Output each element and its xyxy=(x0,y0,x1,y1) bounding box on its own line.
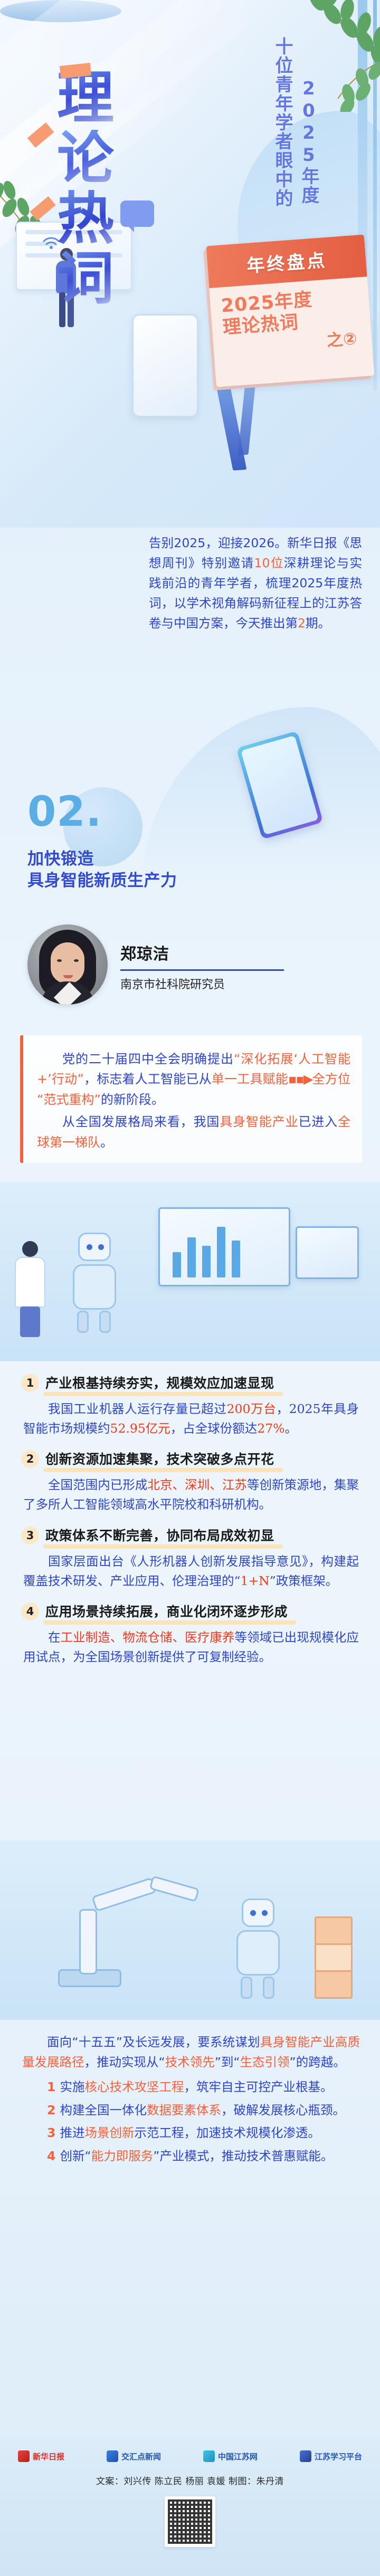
logo-jiaohuidian[interactable]: 交汇点新闻 xyxy=(107,2450,161,2462)
robot-eye-left xyxy=(87,1244,92,1250)
robot-head xyxy=(78,1233,111,1261)
mini-bar-2 xyxy=(187,1237,196,1277)
illustration-phone xyxy=(132,314,198,417)
closing-block: 面向“十五五”及长远发展，要系统谋划具身智能产业高质量发展路径，推动实现从“技术… xyxy=(0,2033,380,2167)
text-run: 数据要素体系 xyxy=(147,2103,221,2117)
item-header: 3 政策体系不断完善，协同布局成效初显 xyxy=(21,1525,361,1545)
illustration-band-lab xyxy=(0,1182,380,1361)
quote-block: 党的二十届四中全会明确提出“深化拓展‘人工智能+’行动”，标志着人工智能已从单一… xyxy=(20,1035,362,1163)
text-run: 具身智能产业 xyxy=(220,1114,298,1129)
text-run: 1+N xyxy=(241,1573,270,1588)
title-char-2: 论 xyxy=(57,130,114,188)
author-role: 南京市社科院研究员 xyxy=(120,975,284,992)
text-run: 52.95亿元 xyxy=(110,1421,170,1436)
text-run: ”的跨越。 xyxy=(290,2055,346,2069)
text-run: 期。 xyxy=(306,616,330,631)
intro-block: 告别2025，迎接2026。新华日报《思想周刊》特别邀请10位深耕理论与实践前沿… xyxy=(0,533,380,633)
box-3 xyxy=(315,1970,353,1999)
text-run: ，标志着人工智能已从 xyxy=(84,1072,212,1086)
easel-card: 年终盘点 2025年度 理论热词 之② xyxy=(206,234,375,387)
closing-point: 1 实施核心技术攻坚工程，筑牢自主可控产业根基。 xyxy=(22,2077,360,2097)
quote-paragraph-1: 党的二十届四中全会明确提出“深化拓展‘人工智能+’行动”，标志着人工智能已从单一… xyxy=(37,1049,350,1110)
globe-icon xyxy=(203,2450,215,2462)
section-title: 加快锻造 具身智能新质生产力 xyxy=(27,848,380,892)
item-title: 应用场景持续拓展，商业化闭环逐步形成 xyxy=(45,1601,288,1621)
mini-bar-4 xyxy=(217,1227,225,1277)
title-char-4: 词 xyxy=(57,250,114,308)
logo-jschina[interactable]: 中国江苏网 xyxy=(203,2450,258,2462)
news-app-icon xyxy=(107,2450,118,2462)
item-title: 政策体系不断完善，协同布局成效初显 xyxy=(45,1525,274,1545)
author-name: 郑琼洁 xyxy=(120,941,284,964)
text-run: ”产业模式，推动技术普惠赋能。 xyxy=(153,2149,333,2163)
text-run: ▪▪▶ xyxy=(288,1072,312,1086)
avatar-eye-right xyxy=(74,959,79,962)
footer-logos: 新华日报 交汇点新闻 中国江苏网 江苏学习平台 xyxy=(16,2450,364,2462)
text-run: 生态引领 xyxy=(240,2055,290,2069)
text-run: 技术领先 xyxy=(165,2055,215,2069)
closing-point-number: 3 xyxy=(47,2125,60,2140)
hero-vertical-tagline: 十位青年学者眼中的 xyxy=(270,37,296,208)
logo-label: 江苏学习平台 xyxy=(315,2451,362,2462)
text-run: 核心技术攻坚工程 xyxy=(85,2079,184,2094)
robot2-eye-left xyxy=(250,1910,256,1916)
list-item: 2 创新资源加速集聚，技术突破多点开花 全国范围内已形成北京、深圳、江苏等创新策… xyxy=(21,1449,361,1514)
robotic-arm-segment-2 xyxy=(91,1877,156,1912)
text-run: ”政策框架。 xyxy=(270,1573,338,1588)
list-item: 3 政策体系不断完善，协同布局成效初显 国家层面出台《人形机器人创新发展指导意见… xyxy=(21,1525,361,1591)
qr-code[interactable] xyxy=(165,2496,215,2547)
list-item: 4 应用场景持续拓展，商业化闭环逐步形成 在工业制造、物流仓储、医疗康养等领域已… xyxy=(21,1601,361,1667)
illustration-robot-2 xyxy=(227,1898,285,1988)
avatar xyxy=(27,924,108,1005)
section-number: 02. xyxy=(27,791,380,833)
illustration-speech-bubble xyxy=(120,201,154,227)
warehouse-box-stack xyxy=(315,1918,353,1999)
item-body: 国家层面出台《人形机器人创新发展指导意见》，构建起覆盖技术研发、产业应用、伦理治… xyxy=(21,1552,361,1591)
robot2-leg-left xyxy=(241,1977,252,1999)
numbered-items-list: 1 产业根基持续夯实，规模效应加速显现 我国工业机器人运行存量已超过200万台，… xyxy=(0,1373,380,1677)
item-title: 创新资源加速集聚，技术突破多点开花 xyxy=(45,1449,274,1469)
text-run: 27% xyxy=(257,1421,284,1436)
title-char-3: 热 xyxy=(57,190,114,248)
box-1 xyxy=(315,1916,353,1945)
quote-paragraph-2: 从全国发展格局来看，我国具身智能产业已进入全球第一梯队。 xyxy=(37,1112,350,1152)
text-run: 的新阶段。 xyxy=(101,1092,164,1107)
section-title-line-2: 具身智能新质生产力 xyxy=(27,870,380,892)
item-header: 4 应用场景持续拓展，商业化闭环逐步形成 xyxy=(21,1601,361,1621)
mini-bar-1 xyxy=(173,1252,181,1277)
text-run: 从全国发展格局来看，我国 xyxy=(62,1114,220,1129)
illustration-researcher xyxy=(8,1241,53,1336)
text-run: ，推动实现从“ xyxy=(84,2055,165,2069)
researcher-head xyxy=(22,1241,38,1257)
researcher-coat xyxy=(15,1257,45,1308)
logo-xinhua-daily[interactable]: 新华日报 xyxy=(18,2450,64,2462)
hero-main-title: 理 论 热 词 xyxy=(57,70,114,309)
mini-bar-3 xyxy=(202,1246,211,1277)
text-run: 党的二十届四中全会明确提出 xyxy=(62,1052,234,1066)
robot2-eye-right xyxy=(262,1910,268,1916)
item-number: 1 xyxy=(21,1374,39,1392)
closing-lead-paragraph: 面向“十五五”及长远发展，要系统谋划具身智能产业高质量发展路径，推动实现从“技术… xyxy=(22,2033,360,2072)
item-number: 4 xyxy=(21,1602,39,1620)
robot-leg-left xyxy=(77,1311,89,1333)
robot2-body xyxy=(236,1930,280,1976)
robot-body xyxy=(73,1264,116,1310)
author-block: 郑琼洁 南京市社科院研究员 xyxy=(27,922,355,1007)
robot-leg-right xyxy=(99,1311,111,1333)
title-char-1: 理 xyxy=(57,70,114,128)
hero-section: 理 论 热 词 十位青年学者眼中的 2025年度 xyxy=(0,0,380,528)
robot2-head xyxy=(242,1898,274,1927)
text-run: 实施 xyxy=(60,2079,85,2094)
avatar-eye-left xyxy=(57,959,62,962)
intro-paragraph: 告别2025，迎接2026。新华日报《思想周刊》特别邀请10位深耕理论与实践前沿… xyxy=(149,533,362,633)
logo-label: 新华日报 xyxy=(33,2451,64,2462)
text-run: ，筑牢自主可控产业根基。 xyxy=(184,2079,333,2094)
text-run: 我国工业机器人运行存量已超过 xyxy=(48,1401,227,1416)
text-run: 。 xyxy=(100,1135,113,1150)
item-header: 1 产业根基持续夯实，规模效应加速显现 xyxy=(21,1373,361,1393)
text-run: 。 xyxy=(285,1421,298,1436)
year-end-review-card: 年终盘点 2025年度 理论热词 之② xyxy=(206,234,375,388)
item-body: 我国工业机器人运行存量已超过200万台，2025年具身智能市场规模约52.95亿… xyxy=(21,1399,361,1438)
text-run: 创新“ xyxy=(60,2149,91,2163)
illustration-robot-1 xyxy=(63,1233,127,1333)
text-run: 200万台 xyxy=(227,1401,277,1416)
text-run: 2 xyxy=(298,616,306,631)
closing-point-number: 2 xyxy=(47,2103,60,2117)
researcher-legs xyxy=(20,1306,40,1337)
easel-body: 2025年度 理论热词 之② xyxy=(209,276,372,359)
robot2-leg-right xyxy=(263,1977,274,1999)
closing-point: 2 构建全国一体化数据要素体系，破解发展核心瓶颈。 xyxy=(22,2101,360,2121)
text-run: ，破解发展核心瓶颈。 xyxy=(221,2103,345,2117)
text-run: 示范工程，加速技术规模化渗透。 xyxy=(135,2125,321,2140)
footer: 新华日报 交汇点新闻 中国江苏网 江苏学习平台 文案：刘兴传 陈立民 杨丽 袁媛… xyxy=(0,2441,380,2576)
item-number: 2 xyxy=(21,1450,39,1468)
closing-point-number: 1 xyxy=(47,2079,60,2094)
band-screen-small xyxy=(296,1226,359,1279)
text-run: 工业制造、物流仓储、医疗康养 xyxy=(61,1630,235,1645)
text-run: ，占全球份额达 xyxy=(170,1421,258,1436)
hero-vertical-year: 2025年度 xyxy=(296,78,322,205)
robotic-arm-segment-1 xyxy=(79,1909,97,1974)
section-heading: 02. 加快锻造 具身智能新质生产力 xyxy=(0,791,380,892)
qr-code-pattern xyxy=(168,2499,212,2544)
easel-header-label: 年终盘点 xyxy=(245,245,327,277)
text-run: 面向“十五五”及长远发展，要系统谋划 xyxy=(47,2035,260,2049)
logo-label: 交汇点新闻 xyxy=(121,2451,161,2462)
closing-points: 1 实施核心技术攻坚工程，筑牢自主可控产业根基。 2 构建全国一体化数据要素体系… xyxy=(22,2077,360,2166)
text-run: 全国范围内已形成 xyxy=(48,1477,148,1492)
infographic-page: 理 论 热 词 十位青年学者眼中的 2025年度 xyxy=(0,0,380,2576)
logo-jiangsu-study[interactable]: 江苏学习平台 xyxy=(300,2450,362,2462)
logo-label: 中国江苏网 xyxy=(218,2451,258,2462)
box-2 xyxy=(315,1943,353,1972)
newspaper-icon xyxy=(18,2450,30,2462)
text-run: 已进入 xyxy=(298,1114,338,1129)
section-title-line-1: 加快锻造 xyxy=(27,848,380,870)
item-body: 全国范围内已形成北京、深圳、江苏等创新策源地，集聚了多所人工智能领域高水平院校和… xyxy=(21,1475,361,1514)
author-info: 郑琼洁 南京市社科院研究员 xyxy=(120,938,284,992)
mini-bar-5 xyxy=(232,1241,240,1277)
robot-eye-right xyxy=(98,1244,104,1250)
text-run: 北京、深圳、江苏 xyxy=(148,1477,248,1492)
closing-point-number: 4 xyxy=(47,2149,60,2163)
text-run: 场景创新 xyxy=(85,2125,135,2140)
author-rule xyxy=(120,969,284,971)
illustration-band-factory xyxy=(0,1840,380,2020)
text-run: 能力即服务 xyxy=(91,2149,154,2163)
closing-point: 4 创新“能力即服务”产业模式，推动技术普惠赋能。 xyxy=(22,2146,360,2167)
text-run: 推进 xyxy=(60,2125,85,2140)
robotic-arm-segment-3 xyxy=(149,1876,199,1902)
text-run: 10位 xyxy=(254,556,284,570)
closing-point: 3 推进场景创新示范工程，加速技术规模化渗透。 xyxy=(22,2123,360,2143)
text-run: 构建全国一体化 xyxy=(60,2103,147,2117)
text-run: 在 xyxy=(48,1630,61,1645)
item-header: 2 创新资源加速集聚，技术突破多点开花 xyxy=(21,1449,361,1469)
text-run: ”到“ xyxy=(215,2055,240,2069)
item-title: 产业根基持续夯实，规模效应加速显现 xyxy=(45,1373,274,1393)
item-body: 在工业制造、物流仓储、医疗康养等领域已出现规模化应用试点，为全国场景创新提供了可… xyxy=(21,1628,361,1667)
item-number: 3 xyxy=(21,1526,39,1544)
list-item: 1 产业根基持续夯实，规模效应加速显现 我国工业机器人运行存量已超过200万台，… xyxy=(21,1373,361,1438)
footer-credits: 文案：刘兴传 陈立民 杨丽 袁媛 制图：朱丹清 xyxy=(16,2474,364,2487)
book-icon xyxy=(300,2450,311,2462)
text-run: 单一工具赋能 xyxy=(212,1072,288,1086)
band-screen-large xyxy=(158,1207,290,1286)
